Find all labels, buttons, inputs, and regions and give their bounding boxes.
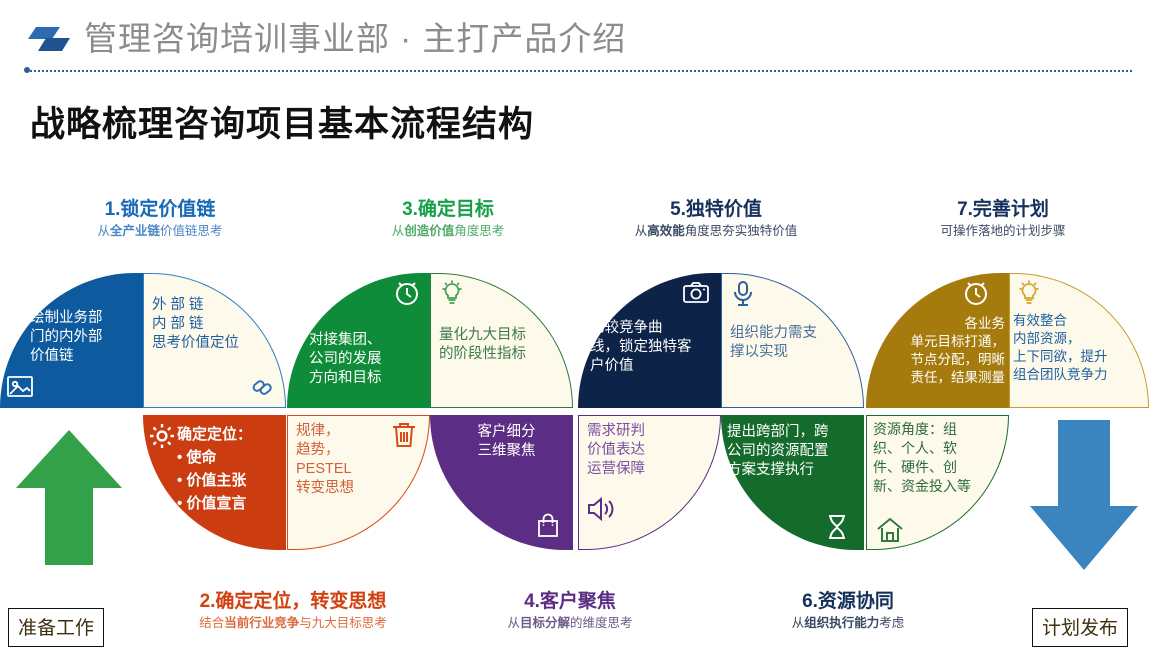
- cell-14[interactable]: 资源角度：组 织、个人、软 件、硬件、创 新、资金投入等: [866, 415, 1009, 550]
- label-end: 计划发布: [1032, 608, 1128, 647]
- cell-8-text: 有效整合 内部资源， 上下同欲，提升 组合团队竞争力: [1013, 312, 1145, 384]
- step-7-title: 7.完善计划: [878, 198, 1128, 222]
- cell-4[interactable]: 量化九大目标 的阶段性指标: [430, 273, 573, 408]
- label-start: 准备工作: [8, 608, 104, 647]
- step-heading-2: 2.确定定位，转变思想 结合当前行业竞争与九大目标思考: [148, 590, 438, 633]
- step-7-subtitle: 可操作落地的计划步骤: [878, 222, 1128, 241]
- microphone-icon: [728, 278, 758, 308]
- header-divider: [26, 70, 1132, 72]
- step-2-title: 2.确定定位，转变思想: [148, 590, 438, 614]
- step-4-subtitle: 从目标分解的维度思考: [440, 614, 700, 633]
- cell-13-text: 提出跨部门，跨 公司的资源配置 方案支撑执行: [727, 423, 860, 480]
- camera-icon: [681, 278, 711, 308]
- cell-6-text: 组织能力需支 撑以实现: [730, 324, 855, 362]
- speaker-icon: [585, 494, 615, 524]
- trash-icon: [389, 420, 419, 450]
- cell-5[interactable]: 比较竞争曲 线，锁定独特客 户价值: [578, 273, 721, 408]
- step-2-subtitle: 结合当前行业竞争与九大目标思考: [148, 614, 438, 633]
- hourglass-icon: [822, 512, 852, 542]
- step-1-title: 1.锁定价值链: [30, 198, 290, 222]
- bulb-icon: [437, 278, 467, 308]
- bulb-icon: [1014, 278, 1044, 308]
- step-heading-6: 6.资源协同 从组织执行能力考虑: [718, 590, 978, 633]
- cell-9-text: 确定定位： • 使命 • 价值主张 • 价值宣言: [177, 423, 282, 515]
- step-heading-5: 5.独特价值 从高效能角度思夯实独特价值: [576, 198, 856, 241]
- clock-icon: [961, 277, 991, 307]
- cell-2[interactable]: 外 部 链 内 部 链 思考价值定位: [143, 273, 286, 408]
- step-1-subtitle: 从全产业链价值链思考: [30, 222, 290, 241]
- step-heading-3: 3.确定目标 从创造价值角度思考: [318, 198, 578, 241]
- slide-kicker: 管理咨询培训事业部 · 主打产品介绍: [84, 12, 626, 60]
- cell-9[interactable]: 确定定位： • 使命 • 价值主张 • 价值宣言: [143, 415, 286, 550]
- image-icon: [5, 371, 35, 401]
- cell-8[interactable]: 有效整合 内部资源， 上下同欲，提升 组合团队竞争力: [1009, 273, 1149, 408]
- step-5-title: 5.独特价值: [576, 198, 856, 222]
- gear-icon: [147, 421, 177, 451]
- step-3-subtitle: 从创造价值角度思考: [318, 222, 578, 241]
- step-6-title: 6.资源协同: [718, 590, 978, 614]
- cell-7[interactable]: 各业务 单元目标打通， 节点分配，明晰 责任，结果测量: [866, 273, 1009, 408]
- cell-11-text: 客户细分 三维聚焦: [446, 423, 567, 461]
- step-3-title: 3.确定目标: [318, 198, 578, 222]
- cell-3-text: 对接集团、 公司的发展 方向和目标: [309, 331, 424, 388]
- cell-2-text: 外 部 链 内 部 链 思考价值定位: [152, 296, 277, 353]
- step-heading-7: 7.完善计划 可操作落地的计划步骤: [878, 198, 1128, 241]
- cell-4-text: 量化九大目标 的阶段性指标: [439, 326, 564, 364]
- step-4-title: 4.客户聚焦: [440, 590, 700, 614]
- cell-7-text: 各业务 单元目标打通， 节点分配，明晰 责任，结果测量: [870, 315, 1005, 387]
- cell-1-text: 绘制业务部 门的内外部 价值链: [30, 309, 137, 366]
- step-heading-4: 4.客户聚焦 从目标分解的维度思考: [440, 590, 700, 633]
- arrow-down-icon: [1028, 420, 1140, 570]
- clock-icon: [392, 277, 422, 307]
- cell-10[interactable]: 规律， 趋势， PESTEL 转变思想: [287, 415, 430, 550]
- cell-1[interactable]: 绘制业务部 门的内外部 价值链: [0, 273, 143, 408]
- cell-6[interactable]: 组织能力需支 撑以实现: [721, 273, 864, 408]
- cell-12[interactable]: 需求研判 价值表达 运营保障: [578, 415, 721, 550]
- cell-12-text: 需求研判 价值表达 运营保障: [587, 422, 712, 479]
- parallelogram-logo-icon: [26, 24, 72, 54]
- step-6-subtitle: 从组织执行能力考虑: [718, 614, 978, 633]
- cell-5-text: 比较竞争曲 线，锁定独特客 户价值: [590, 319, 715, 376]
- cell-13[interactable]: 提出跨部门，跨 公司的资源配置 方案支撑执行: [721, 415, 864, 550]
- slide-header: 管理咨询培训事业部 · 主打产品介绍: [0, 0, 1154, 78]
- cell-14-text: 资源角度：组 织、个人、软 件、硬件、创 新、资金投入等: [873, 420, 1000, 496]
- arrow-up-icon: [14, 430, 124, 565]
- cell-3[interactable]: 对接集团、 公司的发展 方向和目标: [287, 273, 430, 408]
- step-heading-1: 1.锁定价值链 从全产业链价值链思考: [30, 198, 290, 241]
- bag-icon: [533, 510, 563, 540]
- page-title: 战略梳理咨询项目基本流程结构: [30, 96, 534, 147]
- step-5-subtitle: 从高效能角度思夯实独特价值: [576, 222, 856, 241]
- cell-11[interactable]: 客户细分 三维聚焦: [430, 415, 573, 550]
- home-icon: [875, 515, 905, 545]
- process-diagram: 绘制业务部 门的内外部 价值链 外 部 链 内 部 链 思考价值定位 对接集团、…: [0, 273, 1154, 553]
- link-icon: [247, 372, 277, 402]
